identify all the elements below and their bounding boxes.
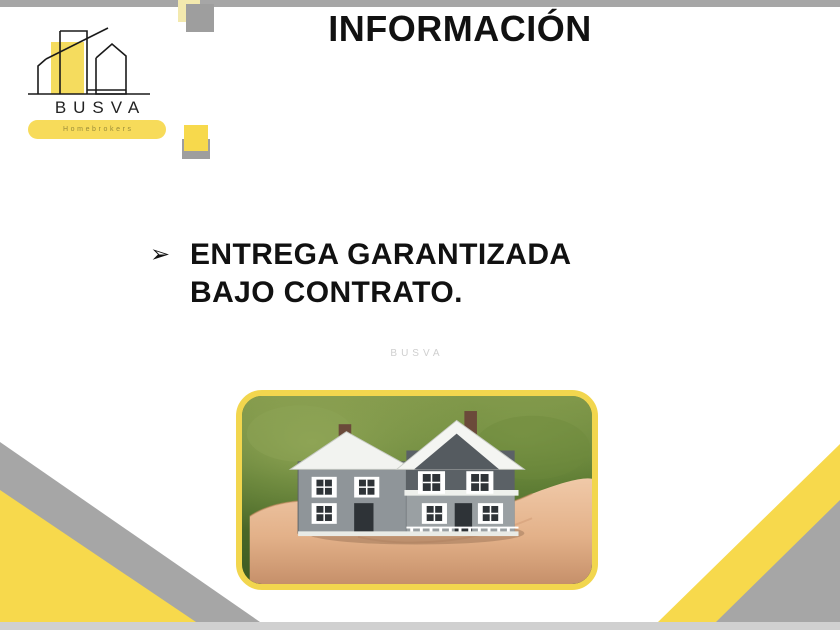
decorative-square-middle <box>178 125 226 167</box>
logo-wordmark: BUSVA <box>22 98 172 118</box>
busva-logo: BUSVA Homebrokers <box>22 22 172 137</box>
top-accent-bar <box>0 0 840 7</box>
presentation-slide: BUSVA Homebrokers INFORMACIÓN ➢ ENTREGA … <box>0 0 840 630</box>
bottom-accent-bar <box>0 622 840 630</box>
logo-tagline: Homebrokers <box>28 122 166 137</box>
watermark-text: BUSVA <box>330 348 500 359</box>
slide-title: INFORMACIÓN <box>180 8 740 50</box>
house-line-art-icon <box>22 22 172 100</box>
corner-decoration-bottom-right <box>610 422 840 622</box>
bullet-item: ➢ ENTREGA GARANTIZADA BAJO CONTRATO. <box>150 236 670 312</box>
decorative-square-yellow <box>184 125 208 151</box>
bullet-text: ENTREGA GARANTIZADA BAJO CONTRATO. <box>190 236 670 312</box>
arrow-bullet-icon: ➢ <box>150 236 190 272</box>
house-in-hand-photo <box>236 390 598 590</box>
